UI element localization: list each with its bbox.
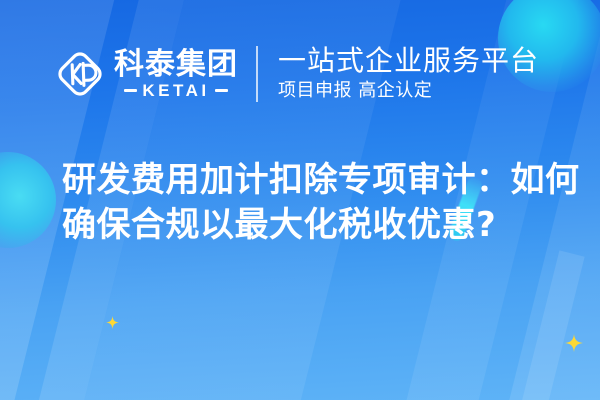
- glow-left-edge: [0, 152, 56, 248]
- wordmark-dash-right: [215, 89, 228, 92]
- slogan-secondary: 项目申报 高企认定: [278, 79, 539, 102]
- sparkle-icon-left: [106, 316, 119, 329]
- slogan-primary: 一站式企业服务平台: [278, 45, 539, 76]
- company-name-cn: 科泰集团: [114, 49, 238, 80]
- logo-wordmark: 科泰集团 KETAI: [114, 49, 238, 98]
- slogan-block: 一站式企业服务平台 项目申报 高企认定: [278, 45, 539, 103]
- background-stripe-6: [501, 250, 584, 400]
- wordmark-dash-left: [124, 89, 137, 92]
- ketai-diamond-monogram-icon: [55, 49, 105, 99]
- company-name-en: KETAI: [142, 82, 209, 99]
- brand-divider: [256, 46, 258, 102]
- title-line-2: 确保合规以最大化税收优惠?: [62, 203, 562, 248]
- sparkle-icon-right: [565, 334, 583, 352]
- title-line-1: 研发费用加计扣除专项审计：如何: [62, 158, 562, 203]
- promo-banner: 科泰集团 KETAI 一站式企业服务平台 项目申报 高企认定 研发费用加计扣除专…: [0, 0, 600, 400]
- page-title: 研发费用加计扣除专项审计：如何 确保合规以最大化税收优惠?: [62, 158, 562, 248]
- company-name-en-row: KETAI: [124, 82, 227, 99]
- brand-header: 科泰集团 KETAI 一站式企业服务平台 项目申报 高企认定: [55, 44, 539, 104]
